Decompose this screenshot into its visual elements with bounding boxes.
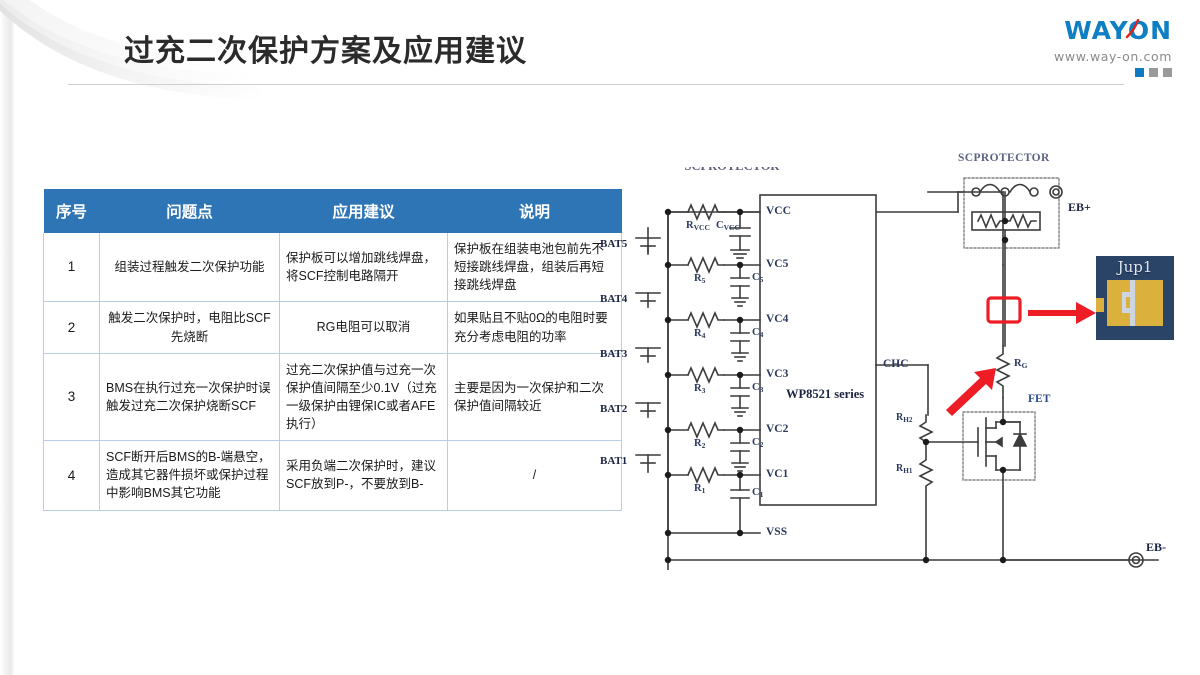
pcb-photo-callout: Jup1: [1096, 256, 1174, 340]
cell-no: 3: [44, 353, 100, 441]
column-header-suggestion: 应用建议: [280, 189, 448, 233]
logo-square-1: [1135, 68, 1144, 77]
schematic-svg: SCPROTECTOR: [628, 150, 1188, 570]
logo-swish-icon: [1125, 19, 1141, 39]
cell-note: 主要是因为一次保护和二次保护值间隔较近: [448, 353, 622, 441]
table-row: 2 触发二次保护时，电阻比SCF先烧断 RG电阻可以取消 如果贴且不贴0Ω的电阻…: [44, 302, 622, 353]
label-scprotector: SCPROTECTOR: [685, 159, 781, 173]
slide: 过充二次保护方案及应用建议 WAYON www.way-on.com 序号 问题…: [0, 0, 1200, 675]
cell-issue: SCF断开后BMS的B-端悬空，造成其它器件损坏或保护过程中影响BMS其它功能: [100, 441, 280, 510]
pcb-notch-side: [1122, 292, 1126, 313]
brand-logo[interactable]: WAYON www.way-on.com: [1012, 18, 1172, 77]
column-header-issue: 问题点: [100, 189, 280, 233]
table-row: 3 BMS在执行过充一次保护时误触发过充二次保护烧断SCF 过充二次保护值与过充…: [44, 353, 622, 441]
logo-wordmark: WAYON: [1064, 18, 1172, 43]
cell-suggestion: 采用负端二次保护时，建议SCF放到P-，不要放到B-: [280, 441, 448, 510]
table-row: 1 组装过程触发二次保护功能 保护板可以增加跳线焊盘，将SCF控制电路隔开 保护…: [44, 233, 622, 302]
cell-no: 1: [44, 233, 100, 302]
callout-arrow-right: [1028, 302, 1096, 324]
pcb-edge-pad: [1096, 298, 1104, 312]
cell-note: 保护板在组装电池包前先不短接跳线焊盘，组装后再短接跳线焊盘: [448, 233, 622, 302]
cell-issue: 触发二次保护时，电阻比SCF先烧断: [100, 302, 280, 353]
title-divider: [68, 84, 1124, 85]
cell-issue: BMS在执行过充一次保护时误触发过充二次保护烧断SCF: [100, 353, 280, 441]
recommendations-table-wrap: 序号 问题点 应用建议 说明 1 组装过程触发二次保护功能 保护板可以增加跳线焊…: [43, 189, 621, 511]
cell-suggestion: 保护板可以增加跳线焊盘，将SCF控制电路隔开: [280, 233, 448, 302]
cell-suggestion: RG电阻可以取消: [280, 302, 448, 353]
column-header-no: 序号: [44, 189, 100, 233]
logo-squares: [1012, 68, 1172, 77]
table-row: 4 SCF断开后BMS的B-端悬空，造成其它器件损坏或保护过程中影响BMS其它功…: [44, 441, 622, 510]
circuit-schematic: SCPROTECTOR VCC VC5 VC4 VC3 VC2 VC1 VSS …: [628, 150, 1188, 570]
cell-note: 如果贴且不贴0Ω的电阻时要充分考虑电阻的功率: [448, 302, 622, 353]
column-header-note: 说明: [448, 189, 622, 233]
recommendations-table: 序号 问题点 应用建议 说明 1 组装过程触发二次保护功能 保护板可以增加跳线焊…: [43, 189, 622, 511]
pcb-silkscreen-label: Jup1: [1096, 258, 1174, 276]
cell-issue: 组装过程触发二次保护功能: [100, 233, 280, 302]
table-body: 1 组装过程触发二次保护功能 保护板可以增加跳线焊盘，将SCF控制电路隔开 保护…: [44, 233, 622, 510]
jumper-highlight-box: [988, 298, 1020, 322]
cell-note: /: [448, 441, 622, 510]
logo-url: www.way-on.com: [1012, 49, 1172, 64]
cell-suggestion: 过充二次保护值与过充一次保护值间隔至少0.1V（过充一级保护由锂保IC或者AFE…: [280, 353, 448, 441]
cell-no: 2: [44, 302, 100, 353]
cell-no: 4: [44, 441, 100, 510]
pcb-pad-gap: [1130, 280, 1135, 326]
callout-arrow-up-left: [946, 368, 996, 416]
logo-square-3: [1163, 68, 1172, 77]
table-header-row: 序号 问题点 应用建议 说明: [44, 189, 622, 233]
page-title: 过充二次保护方案及应用建议: [124, 26, 527, 70]
logo-square-2: [1149, 68, 1158, 77]
pcb-solder-pad: [1107, 280, 1163, 326]
